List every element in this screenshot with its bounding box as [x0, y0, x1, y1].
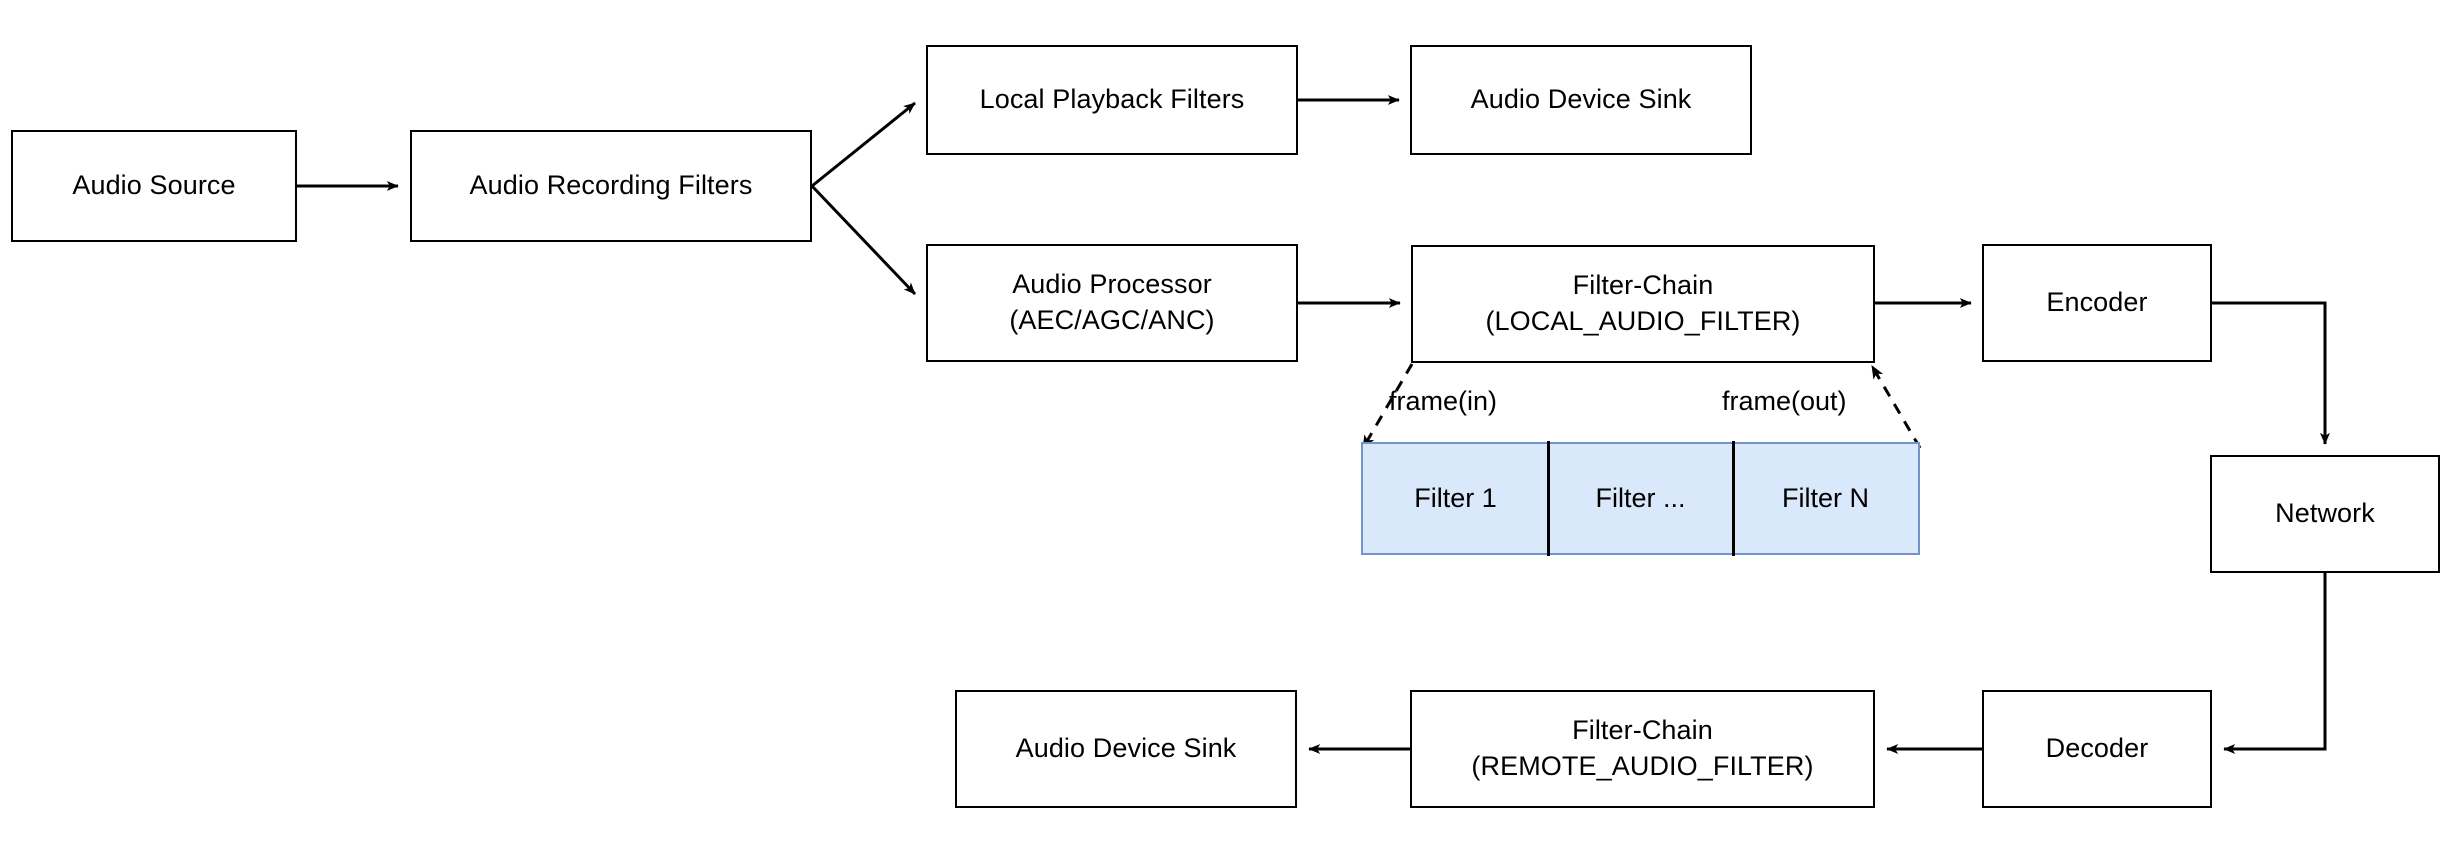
- node-remote-filter-chain[interactable]: Filter-Chain (REMOTE_AUDIO_FILTER): [1410, 690, 1875, 808]
- node-audio-source-label: Audio Source: [72, 168, 235, 204]
- edge-encoder-to-network: [2212, 303, 2325, 444]
- node-local-filter-chain[interactable]: Filter-Chain (LOCAL_AUDIO_FILTER): [1411, 245, 1875, 363]
- node-audio-device-sink-bottom[interactable]: Audio Device Sink: [955, 690, 1297, 808]
- filter-cell-middle-label: Filter ...: [1595, 483, 1685, 514]
- node-remote-filter-chain-label-line2: (REMOTE_AUDIO_FILTER): [1471, 749, 1813, 785]
- node-audio-recording-filters[interactable]: Audio Recording Filters: [410, 130, 812, 242]
- node-audio-processor-label-line2: (AEC/AGC/ANC): [1009, 303, 1214, 339]
- filter-cell-n-label: Filter N: [1782, 483, 1869, 514]
- node-local-filter-chain-label-line2: (LOCAL_AUDIO_FILTER): [1485, 304, 1800, 340]
- node-local-playback-filters-label: Local Playback Filters: [980, 82, 1245, 118]
- node-local-filter-chain-label-line1: Filter-Chain: [1573, 268, 1714, 304]
- filter-cell-1[interactable]: Filter 1: [1363, 444, 1548, 553]
- edge-recording-to-processor: [812, 186, 915, 294]
- node-encoder-label: Encoder: [2046, 285, 2147, 321]
- edge-label-frame-in: frame(in): [1389, 386, 1497, 417]
- edge-network-to-decoder: [2224, 573, 2325, 749]
- node-audio-source[interactable]: Audio Source: [11, 130, 297, 242]
- filter-chain-bar: Filter 1 Filter ... Filter N: [1361, 442, 1920, 555]
- node-decoder[interactable]: Decoder: [1982, 690, 2212, 808]
- node-local-playback-filters[interactable]: Local Playback Filters: [926, 45, 1298, 155]
- edge-label-frame-out: frame(out): [1722, 386, 1847, 417]
- node-audio-processor-label-line1: Audio Processor: [1012, 267, 1212, 303]
- edge-recording-to-local-playback: [812, 103, 915, 186]
- filter-cell-middle[interactable]: Filter ...: [1548, 444, 1733, 553]
- node-audio-device-sink-bottom-label: Audio Device Sink: [1016, 731, 1237, 767]
- node-decoder-label: Decoder: [2046, 731, 2149, 767]
- diagram-canvas: Audio Source Audio Recording Filters Loc…: [0, 0, 2458, 860]
- node-encoder[interactable]: Encoder: [1982, 244, 2212, 362]
- node-remote-filter-chain-label-line1: Filter-Chain: [1572, 713, 1713, 749]
- node-audio-device-sink-top[interactable]: Audio Device Sink: [1410, 45, 1752, 155]
- node-audio-recording-filters-label: Audio Recording Filters: [470, 168, 753, 204]
- node-audio-processor[interactable]: Audio Processor (AEC/AGC/ANC): [926, 244, 1298, 362]
- edge-frame-out-dashed: [1872, 366, 1920, 448]
- node-network[interactable]: Network: [2210, 455, 2440, 573]
- node-network-label: Network: [2275, 496, 2375, 532]
- filter-cell-n[interactable]: Filter N: [1733, 444, 1918, 553]
- node-audio-device-sink-top-label: Audio Device Sink: [1471, 82, 1692, 118]
- filter-cell-1-label: Filter 1: [1414, 483, 1497, 514]
